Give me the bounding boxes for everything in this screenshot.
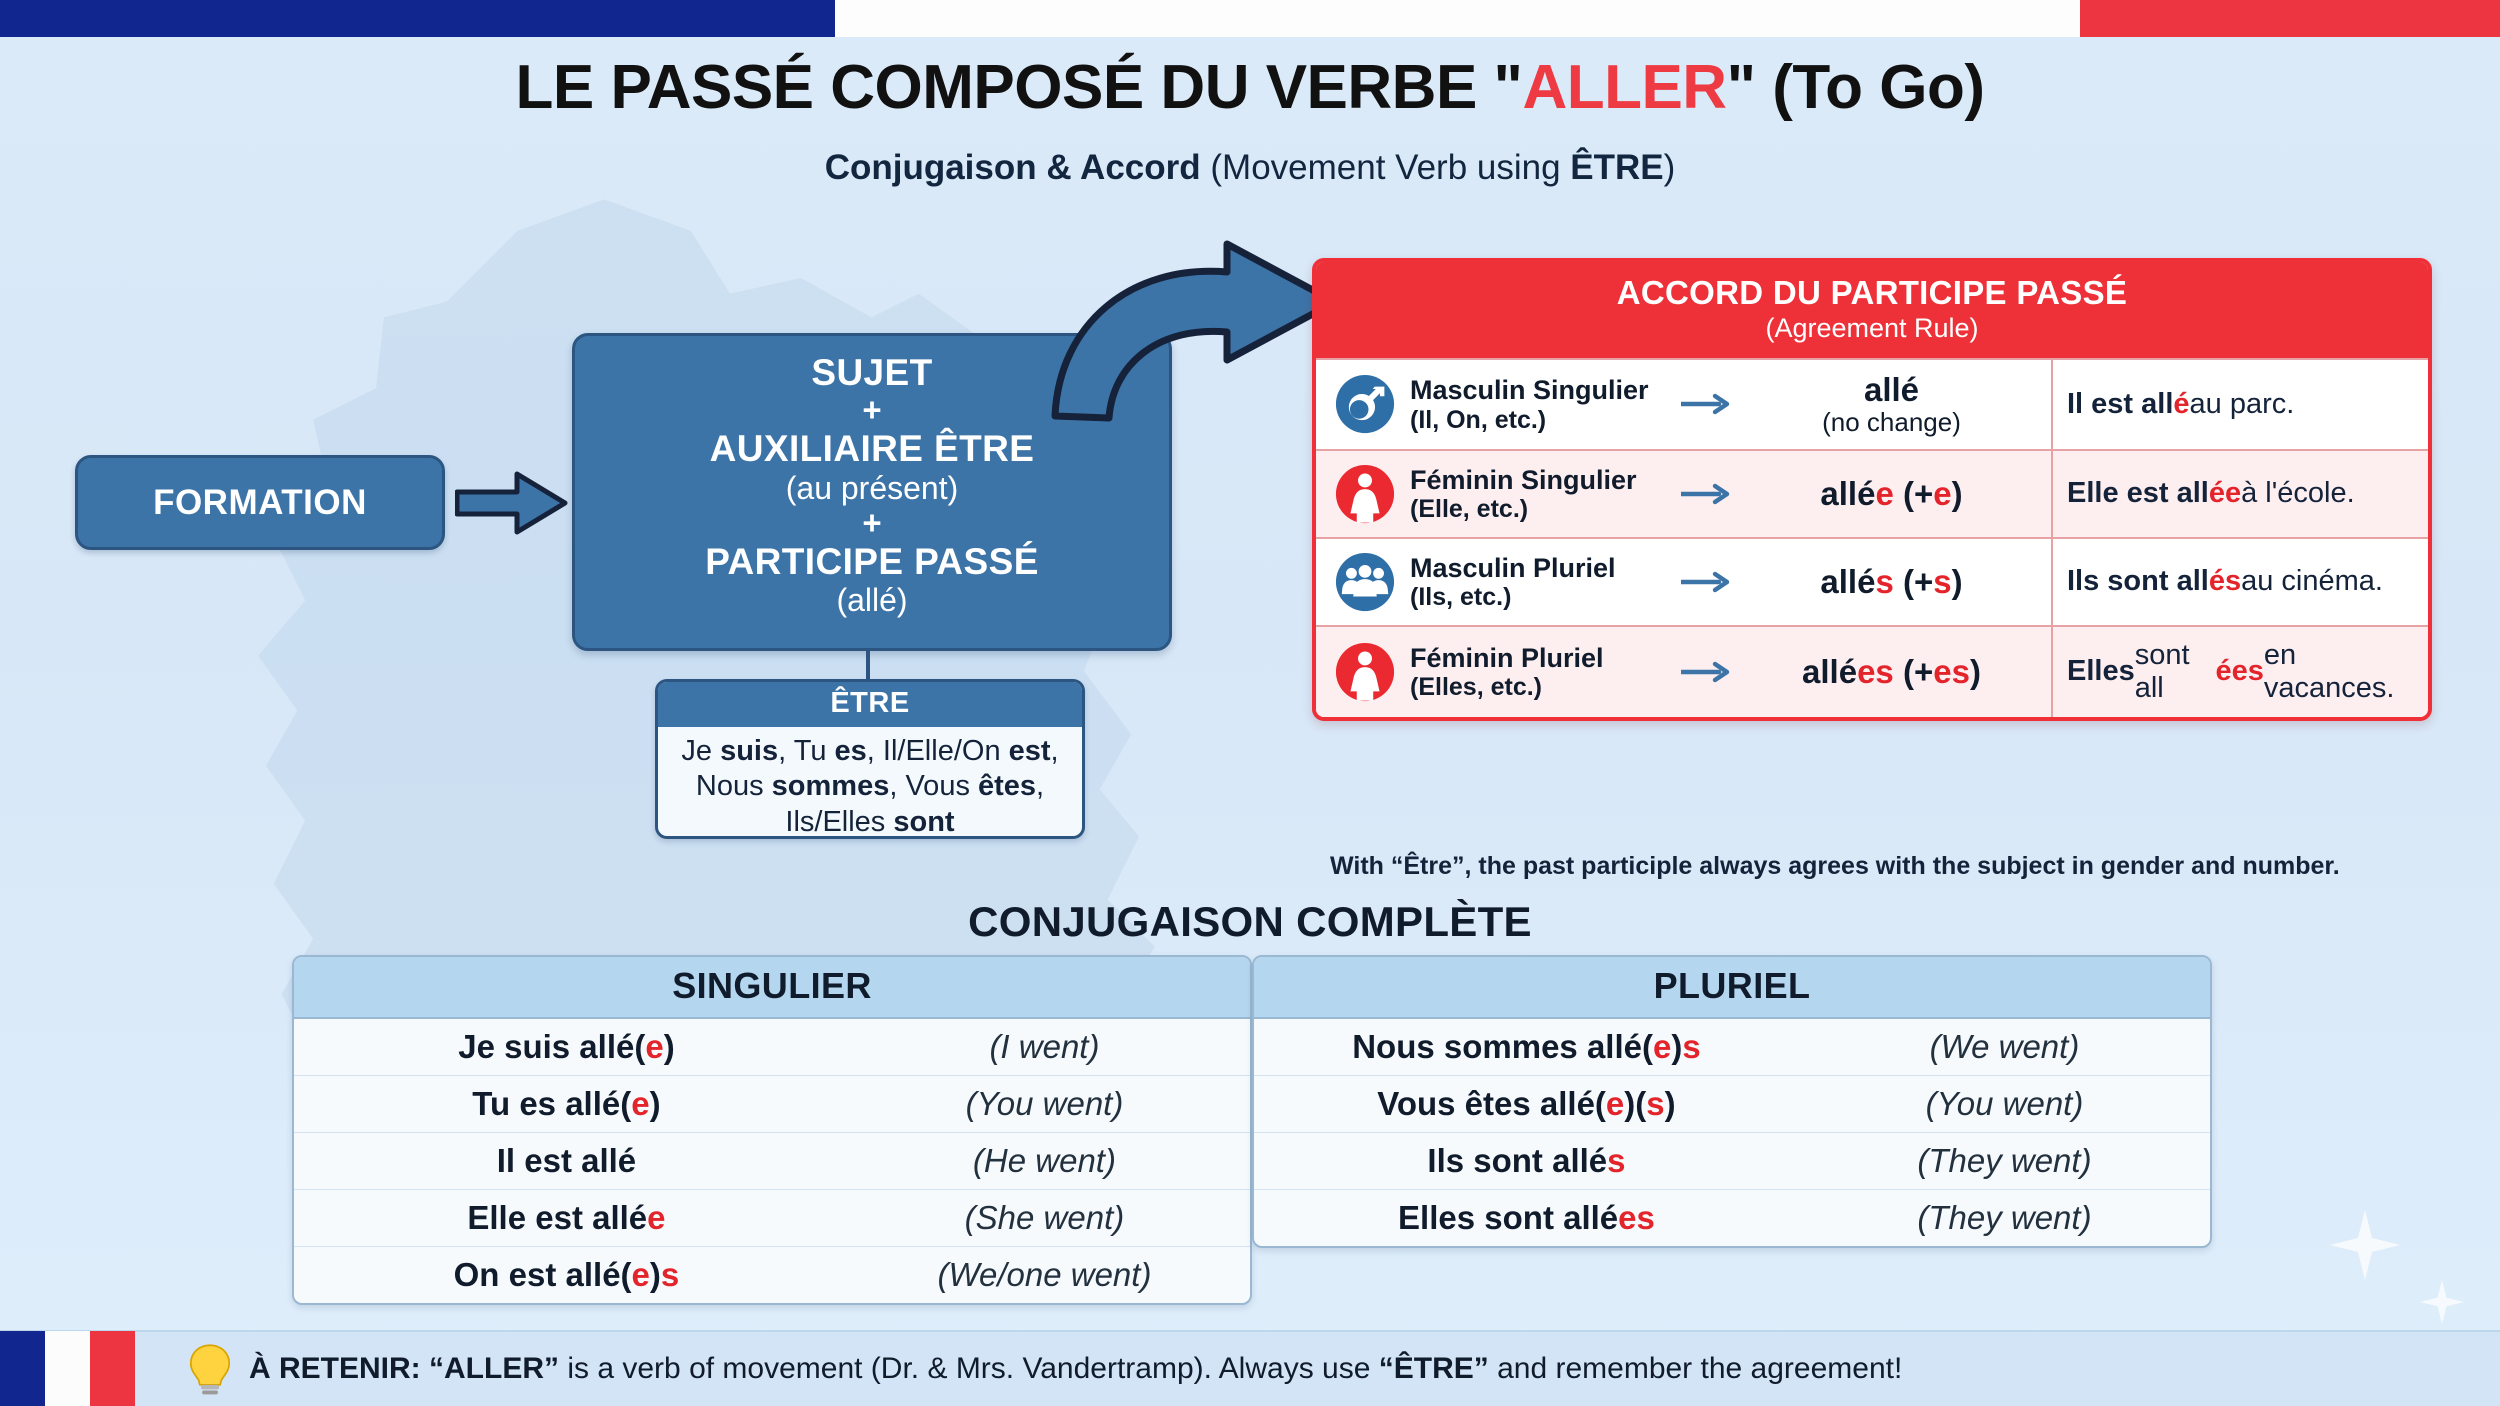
conjugation-french-base: Nous sommes allé(	[1352, 1028, 1653, 1065]
conjugation-french-suffix: )(s)	[1624, 1085, 1675, 1122]
accord-panel: ACCORD DU PARTICIPE PASSÉ (Agreement Rul…	[1312, 258, 2432, 721]
etre-fragment-5: est	[1009, 735, 1051, 767]
flag-blue-stripe	[0, 1331, 45, 1406]
accord-note: With “Être”, the past participle always …	[1330, 852, 2450, 881]
accord-row-left: Féminin Pluriel(Elles, etc.)allées (+es)	[1316, 627, 2051, 717]
group-people-icon	[1334, 551, 1396, 613]
right-arrow-icon	[1681, 391, 1733, 417]
formation-label: FORMATION	[153, 483, 367, 523]
conjugation-french-base: Il est allé	[497, 1142, 636, 1179]
table-row: On est allé(e)s(We/one went)	[294, 1246, 1250, 1303]
accord-form-suffix: e	[1875, 475, 1893, 512]
accord-subtitle: (Agreement Rule)	[1316, 313, 2428, 344]
conjugation-french-ending: e	[631, 1085, 649, 1122]
table-row: Nous sommes allé(e)s(We went)	[1254, 1019, 2210, 1075]
flag-red-stripe	[2080, 0, 2500, 37]
conjugation-french: Ils sont allés	[1254, 1133, 1799, 1189]
accord-example-bold: Il est all	[2067, 388, 2173, 421]
accord-form-note: (no change)	[1742, 408, 2041, 437]
accord-title: ACCORD DU PARTICIPE PASSÉ	[1316, 274, 2428, 312]
accord-row-left: Masculin Pluriel(Ils, etc.)allés (+s)	[1316, 539, 2051, 625]
conjugation-french: Vous êtes allé(e)(s)	[1254, 1076, 1799, 1132]
accord-example-bold: Elles	[2067, 655, 2135, 688]
conjugation-english: (You went)	[839, 1076, 1250, 1132]
conjugation-plural-rows: Nous sommes allé(e)s(We went)Vous êtes a…	[1254, 1019, 2210, 1246]
accord-form-base: allé	[1820, 475, 1875, 512]
french-flag-top-bar	[0, 0, 2500, 37]
accord-form: allées (+es)	[1742, 654, 2041, 690]
accord-form-base: allé	[1864, 371, 1919, 408]
title-accent-aller: ALLER	[1522, 53, 1726, 122]
accord-example-mid: sont all	[2135, 639, 2216, 705]
conjugation-french: Elles sont allées	[1254, 1190, 1799, 1246]
accord-example-rest: en vacances.	[2264, 639, 2414, 705]
right-arrow-icon	[1681, 481, 1733, 507]
etre-fragment-3: es	[835, 735, 867, 767]
etre-fragment-2: , Tu	[778, 735, 834, 767]
conjugation-english: (We/one went)	[839, 1247, 1250, 1303]
etre-fragment-1: suis	[720, 735, 778, 767]
accord-row-left: Masculin Singulier(Il, On, etc.)allé(no …	[1316, 360, 2051, 449]
footer-text: À RETENIR: “ALLER” is a verb of movement…	[249, 1352, 1902, 1386]
etre-fragment-11: sont	[893, 806, 954, 838]
accord-category-pronouns: (Elle, etc.)	[1410, 495, 1672, 523]
flag-white-stripe	[835, 0, 2080, 37]
accord-row: Masculin Singulier(Il, On, etc.)allé(no …	[1316, 358, 2428, 449]
male-symbol-icon	[1334, 373, 1396, 435]
conjugation-french-base: Tu es allé(	[472, 1085, 631, 1122]
subtitle-etre: ÊTRE	[1570, 148, 1663, 187]
conjugation-english: (We went)	[1799, 1019, 2210, 1075]
conjugation-french-suffix: )s	[650, 1256, 679, 1293]
accord-form-marker: (+e)	[1903, 475, 1963, 512]
accord-example-rest: à l'école.	[2241, 477, 2355, 510]
etre-fragment-0: Je	[681, 735, 720, 767]
accord-category-pronouns: (Elles, etc.)	[1410, 673, 1672, 701]
conjugation-french-base: Ils sont allé	[1427, 1142, 1607, 1179]
accord-form-space	[1894, 563, 1903, 600]
conjugation-french-ending: es	[1618, 1199, 1655, 1236]
accord-form: allés (+s)	[1742, 564, 2041, 600]
conjugation-french: On est allé(e)s	[294, 1247, 839, 1303]
female-figure-icon	[1334, 463, 1396, 525]
conjugation-table-singular: SINGULIER Je suis allé(e)(I went)Tu es a…	[292, 955, 1252, 1305]
subtitle-end: )	[1664, 148, 1676, 187]
etre-fragment-8: , Vous	[889, 770, 978, 802]
conjugation-french-base: Vous êtes allé(	[1377, 1085, 1606, 1122]
accord-category: Masculin Pluriel(Ils, etc.)	[1410, 553, 1672, 612]
accord-form-base: allé	[1802, 653, 1857, 690]
accord-example-ending: és	[2209, 565, 2241, 598]
accord-row-left: Féminin Singulier(Elle, etc.)allée (+e)	[1316, 451, 2051, 537]
etre-conjugation-box: ÊTRE Je suis, Tu es, Il/Elle/On est, Nou…	[655, 679, 1085, 839]
accord-rows: Masculin Singulier(Il, On, etc.)allé(no …	[1316, 358, 2428, 717]
accord-example: Il est allé au parc.	[2051, 360, 2428, 449]
right-arrow-icon	[1681, 659, 1733, 685]
conjugation-french: Je suis allé(e)	[294, 1019, 839, 1075]
conjugation-french-suffix: )	[650, 1085, 661, 1122]
accord-category-pronouns: (Il, On, etc.)	[1410, 406, 1672, 434]
title-prefix: LE PASSÉ COMPOSÉ DU VERBE "	[516, 53, 1523, 122]
table-row: Il est allé(He went)	[294, 1132, 1250, 1189]
etre-body: Je suis, Tu es, Il/Elle/On est, Nous som…	[658, 727, 1082, 839]
right-arrow-icon	[455, 468, 570, 538]
conjugation-french-base: Je suis allé(	[458, 1028, 645, 1065]
accord-header: ACCORD DU PARTICIPE PASSÉ (Agreement Rul…	[1316, 262, 2428, 358]
accord-row: Masculin Pluriel(Ils, etc.)allés (+s)Ils…	[1316, 537, 2428, 625]
page-subtitle: Conjugaison & Accord (Movement Verb usin…	[0, 148, 2500, 188]
table-row: Vous êtes allé(e)(s)(You went)	[1254, 1075, 2210, 1132]
sujet-line-3-sub: (allé)	[575, 582, 1169, 619]
conjugation-french: Tu es allé(e)	[294, 1076, 839, 1132]
flag-red-stripe	[90, 1331, 135, 1406]
conjugation-english: (He went)	[839, 1133, 1250, 1189]
accord-form-suffix: es	[1857, 653, 1894, 690]
conjugation-french: Elle est allée	[294, 1190, 839, 1246]
female-figure-icon	[1334, 641, 1396, 703]
accord-category-name: Masculin Singulier	[1410, 375, 1672, 406]
etre-fragment-7: sommes	[772, 770, 890, 802]
accord-arrow	[1672, 659, 1742, 685]
conjugation-french-ending: e	[1653, 1028, 1671, 1065]
conjugation-french-ending: e	[632, 1256, 650, 1293]
page-title: LE PASSÉ COMPOSÉ DU VERBE "ALLER" (To Go…	[0, 52, 2500, 123]
conjugation-french-base: Elles sont allé	[1398, 1199, 1618, 1236]
sujet-line-3: PARTICIPE PASSÉ	[575, 541, 1169, 582]
sujet-line-2-sub: (au présent)	[575, 470, 1169, 507]
table-row: Tu es allé(e)(You went)	[294, 1075, 1250, 1132]
accord-category: Féminin Pluriel(Elles, etc.)	[1410, 643, 1672, 702]
flag-white-stripe	[45, 1331, 90, 1406]
conjugation-french-ending: s	[1607, 1142, 1625, 1179]
footer-mid: is a verb of movement (Dr. & Mrs. Vander…	[559, 1352, 1379, 1385]
conjugation-english: (You went)	[1799, 1076, 2210, 1132]
sujet-etre-connector	[866, 651, 870, 681]
conjugation-french-ending: e	[1606, 1085, 1624, 1122]
accord-category-name: Masculin Pluriel	[1410, 553, 1672, 584]
accord-arrow	[1672, 391, 1742, 417]
accord-example-bold: Elle est all	[2067, 477, 2209, 510]
accord-example: Elle est allée à l'école.	[2051, 451, 2428, 537]
etre-fragment-9: êtes	[978, 770, 1036, 802]
etre-fragment-4: , Il/Elle/On	[867, 735, 1009, 767]
conjugation-french-suffix: )	[664, 1028, 675, 1065]
accord-form-space	[1894, 475, 1903, 512]
conjugation-english: (They went)	[1799, 1133, 2210, 1189]
sujet-line-2: AUXILIAIRE ÊTRE	[575, 428, 1169, 469]
accord-arrow	[1672, 481, 1742, 507]
subtitle-rest: (Movement Verb using	[1201, 148, 1571, 187]
accord-row: Féminin Singulier(Elle, etc.)allée (+e)E…	[1316, 449, 2428, 537]
accord-category: Féminin Singulier(Elle, etc.)	[1410, 465, 1672, 524]
table-row: Je suis allé(e)(I went)	[294, 1019, 1250, 1075]
accord-example-rest: au cinéma.	[2241, 565, 2383, 598]
conjugation-french: Nous sommes allé(e)s	[1254, 1019, 1799, 1075]
etre-header: ÊTRE	[658, 682, 1082, 727]
conjugation-english: (I went)	[839, 1019, 1250, 1075]
accord-category-name: Féminin Pluriel	[1410, 643, 1672, 674]
accord-form-suffix: s	[1875, 563, 1893, 600]
accord-example-bold: Ils sont all	[2067, 565, 2209, 598]
sparkle-icon	[2420, 1280, 2464, 1324]
conjugation-french-ending: e	[647, 1199, 665, 1236]
accord-row: Féminin Pluriel(Elles, etc.)allées (+es)…	[1316, 625, 2428, 717]
conjugation-table-plural: PLURIEL Nous sommes allé(e)s(We went)Vou…	[1252, 955, 2212, 1248]
flag-blue-stripe	[0, 0, 835, 37]
accord-category-name: Féminin Singulier	[1410, 465, 1672, 496]
conjugation-english: (She went)	[839, 1190, 1250, 1246]
formation-box: FORMATION	[75, 455, 445, 550]
accord-category: Masculin Singulier(Il, On, etc.)	[1410, 375, 1672, 434]
footer-bar: À RETENIR: “ALLER” is a verb of movement…	[0, 1330, 2500, 1406]
conjugation-header-plural: PLURIEL	[1254, 957, 2210, 1019]
accord-form: allée (+e)	[1742, 476, 2041, 512]
accord-form: allé(no change)	[1742, 372, 2041, 437]
sujet-plus-2: +	[575, 506, 1169, 541]
conjugation-section-title: CONJUGAISON COMPLÈTE	[0, 898, 2500, 946]
conjugation-french-base: Elle est allé	[467, 1199, 647, 1236]
conjugation-french-ending: e	[645, 1028, 663, 1065]
conjugation-french-base: On est allé(	[454, 1256, 632, 1293]
infographic-page: LE PASSÉ COMPOSÉ DU VERBE "ALLER" (To Go…	[0, 0, 2500, 1406]
accord-example: Ils sont allés au cinéma.	[2051, 539, 2428, 625]
accord-form-marker: (+s)	[1903, 563, 1963, 600]
accord-example-ending: ées	[2215, 655, 2263, 688]
accord-example-ending: é	[2173, 388, 2189, 421]
subtitle-bold: Conjugaison & Accord	[825, 148, 1201, 187]
conjugation-header-singular: SINGULIER	[294, 957, 1250, 1019]
accord-example-ending: ée	[2209, 477, 2241, 510]
right-arrow-icon	[1681, 569, 1733, 595]
table-row: Ils sont allés(They went)	[1254, 1132, 2210, 1189]
table-row: Elle est allée(She went)	[294, 1189, 1250, 1246]
conjugation-english: (They went)	[1799, 1190, 2210, 1246]
conjugation-french-suffix: )s	[1671, 1028, 1700, 1065]
etre-body-text: Je suis, Tu es, Il/Elle/On est, Nous som…	[681, 735, 1058, 838]
accord-form-base: allé	[1820, 563, 1875, 600]
conjugation-french: Il est allé	[294, 1133, 839, 1189]
sparkle-icon	[2330, 1210, 2400, 1280]
accord-example-rest: au parc.	[2190, 388, 2295, 421]
accord-arrow	[1672, 569, 1742, 595]
accord-example: Elles sont allées en vacances.	[2051, 627, 2428, 717]
french-flag-footer-icon	[0, 1331, 135, 1406]
lightbulb-icon	[187, 1343, 233, 1395]
accord-form-space	[1894, 653, 1903, 690]
table-row: Elles sont allées(They went)	[1254, 1189, 2210, 1246]
footer-quote-etre: “ÊTRE”	[1379, 1352, 1489, 1385]
accord-form-marker: (+es)	[1903, 653, 1981, 690]
conjugation-singular-rows: Je suis allé(e)(I went)Tu es allé(e)(You…	[294, 1019, 1250, 1303]
accord-category-pronouns: (Ils, etc.)	[1410, 583, 1672, 611]
footer-quote-aller: “ALLER”	[429, 1352, 559, 1385]
title-suffix: " (To Go)	[1727, 53, 1985, 122]
footer-end: and remember the agreement!	[1489, 1352, 1903, 1385]
footer-lead: À RETENIR:	[249, 1352, 421, 1385]
